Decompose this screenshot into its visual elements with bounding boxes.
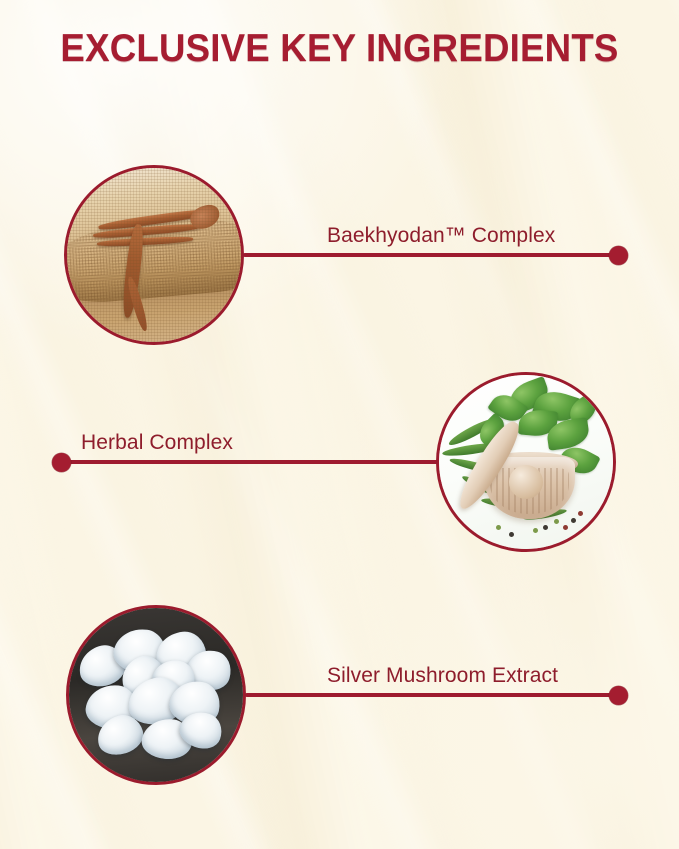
connector-dot-2 [52, 453, 71, 472]
connector-dot-1 [609, 246, 628, 265]
root-stick [96, 235, 192, 247]
root-stick [98, 207, 213, 232]
connector-line-3 [245, 693, 622, 697]
connector-line-2 [61, 460, 441, 464]
ingredient-label-3: Silver Mushroom Extract [327, 664, 558, 688]
ingredient-photo-3 [66, 605, 246, 785]
root-tip [187, 202, 222, 232]
burlap-fold [64, 210, 244, 307]
connector-line-1 [243, 253, 622, 257]
root-stick [93, 222, 201, 239]
ingredient-label-1: Baekhyodan™ Complex [327, 224, 555, 248]
mortar-pestle-herbs-illustration [439, 375, 613, 549]
ingredients-poster: EXCLUSIVE KEY INGREDIENTS Baekhyodan™ Co… [0, 0, 679, 849]
ground-spices [439, 375, 613, 549]
root-main-body [120, 223, 145, 318]
silver-mushroom-illustration [69, 608, 243, 782]
ingredient-photo-1 [64, 165, 244, 345]
connector-dot-3 [609, 686, 628, 705]
dried-root-burlap-illustration [67, 168, 241, 342]
page-title: EXCLUSIVE KEY INGREDIENTS [20, 27, 658, 71]
ingredient-photo-2 [436, 372, 616, 552]
ingredient-label-2: Herbal Complex [81, 431, 233, 455]
root-branch [126, 276, 150, 332]
